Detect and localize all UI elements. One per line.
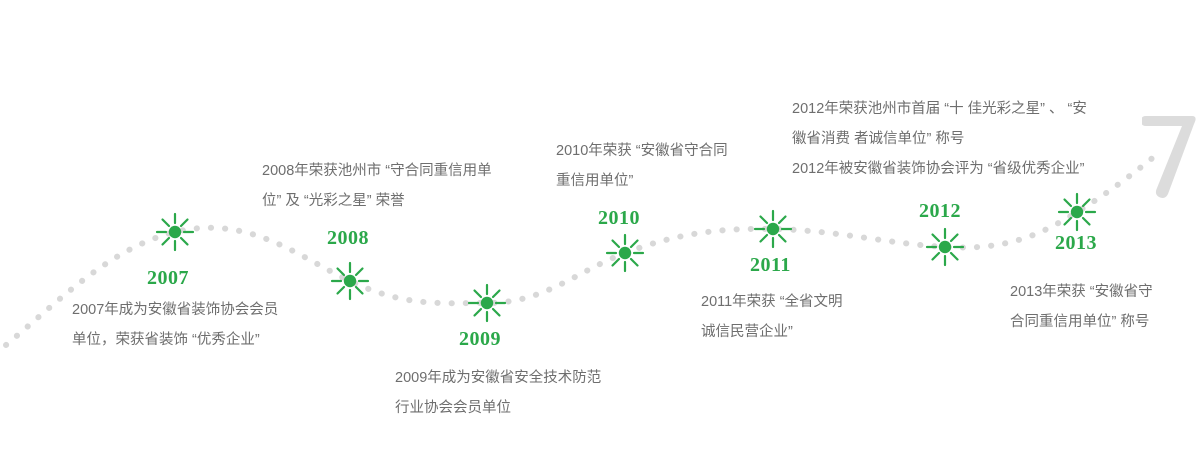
year-label-2009: 2009 — [459, 328, 501, 351]
star-marker-2007[interactable] — [157, 214, 193, 250]
star-marker-2010[interactable] — [607, 235, 643, 271]
star-marker-2012[interactable] — [927, 229, 963, 265]
description-2007: 2007年成为安徽省装饰协会会员单位，荣获省装饰 “优秀企业” — [72, 295, 278, 355]
star-marker-2008[interactable] — [332, 263, 368, 299]
description-line: 2011年荣获 “全省文明 — [701, 287, 843, 317]
description-2010: 2010年荣获 “安徽省守合同重信用单位” — [556, 136, 728, 196]
description-line: 行业协会会员单位 — [395, 393, 601, 423]
year-label-2008: 2008 — [327, 227, 369, 250]
description-line: 位” 及 “光彩之星” 荣誉 — [262, 186, 492, 216]
star-marker-2009[interactable] — [469, 285, 505, 321]
year-label-2011: 2011 — [750, 254, 791, 277]
description-line: 合同重信用单位” 称号 — [1010, 307, 1153, 337]
description-2011: 2011年荣获 “全省文明诚信民营企业” — [701, 287, 843, 347]
description-line: 2009年成为安徽省安全技术防范 — [395, 363, 601, 393]
description-line: 诚信民营企业” — [701, 317, 843, 347]
description-line: 徽省消费 者诚信单位” 称号 — [792, 124, 1087, 154]
year-label-2007: 2007 — [147, 267, 189, 290]
star-marker-2011[interactable] — [755, 211, 791, 247]
year-label-2013: 2013 — [1055, 232, 1097, 255]
description-line: 2007年成为安徽省装饰协会会员 — [72, 295, 278, 325]
star-marker-2013[interactable] — [1059, 194, 1095, 230]
year-label-2012: 2012 — [919, 200, 961, 223]
description-line: 重信用单位” — [556, 166, 728, 196]
description-2008: 2008年荣获池州市 “守合同重信用单位” 及 “光彩之星” 荣誉 — [262, 156, 492, 216]
description-line: 2010年荣获 “安徽省守合同 — [556, 136, 728, 166]
description-line: 单位，荣获省装饰 “优秀企业” — [72, 325, 278, 355]
description-2012: 2012年荣获池州市首届 “十 佳光彩之星” 、 “安徽省消费 者诚信单位” 称… — [792, 94, 1087, 184]
timeline-infographic: 20072007年成为安徽省装饰协会会员单位，荣获省装饰 “优秀企业”20082… — [0, 0, 1200, 465]
description-line: 2012年荣获池州市首届 “十 佳光彩之星” 、 “安 — [792, 94, 1087, 124]
description-line: 2012年被安徽省装饰协会评为 “省级优秀企业” — [792, 154, 1087, 184]
description-2013: 2013年荣获 “安徽省守合同重信用单位” 称号 — [1010, 277, 1153, 337]
year-label-2010: 2010 — [598, 207, 640, 230]
description-2009: 2009年成为安徽省安全技术防范行业协会会员单位 — [395, 363, 601, 423]
description-line: 2013年荣获 “安徽省守 — [1010, 277, 1153, 307]
description-line: 2008年荣获池州市 “守合同重信用单 — [262, 156, 492, 186]
